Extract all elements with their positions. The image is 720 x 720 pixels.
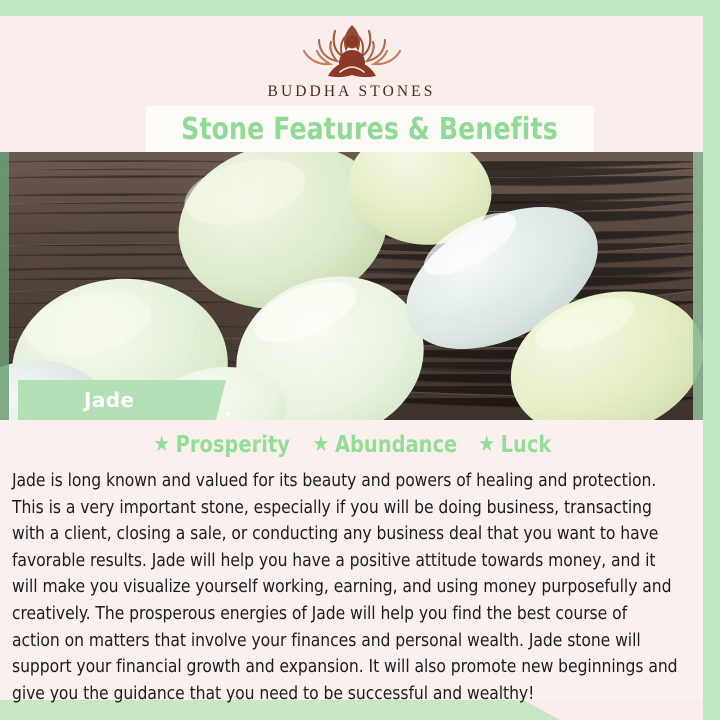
page-title: Stone Features & Benefits bbox=[182, 112, 559, 147]
frame-top-band bbox=[0, 0, 720, 16]
benefit-item-abundance: ★ Abundance bbox=[313, 432, 458, 458]
benefit-label: Luck bbox=[501, 432, 552, 458]
benefit-label: Abundance bbox=[335, 432, 457, 458]
benefit-item-luck: ★ Luck bbox=[479, 432, 552, 458]
frame-right-band bbox=[703, 0, 720, 720]
star-icon: ★ bbox=[479, 434, 496, 456]
star-icon: ★ bbox=[153, 434, 170, 456]
left-green-strip bbox=[0, 152, 9, 420]
content-section: ★ Prosperity ★ Abundance ★ Luck Jade is … bbox=[0, 420, 703, 700]
benefits-list: ★ Prosperity ★ Abundance ★ Luck bbox=[0, 420, 703, 464]
stone-photo-illustration bbox=[0, 152, 703, 420]
description-paragraph: Jade is long known and valued for its be… bbox=[12, 468, 679, 707]
benefit-item-prosperity: ★ Prosperity bbox=[153, 432, 289, 458]
stone-name-label: Jade bbox=[84, 388, 134, 412]
title-banner: Stone Features & Benefits bbox=[146, 106, 594, 152]
brand-name: BUDDHA STONES bbox=[268, 83, 436, 101]
benefit-label: Prosperity bbox=[176, 432, 290, 458]
right-green-strip bbox=[693, 152, 703, 420]
stone-name-tag: Jade bbox=[18, 380, 226, 420]
stone-photo bbox=[0, 152, 703, 420]
infographic-page: BUDDHA STONES Stone Features & Benefits … bbox=[0, 0, 720, 720]
lotus-meditation-icon bbox=[290, 20, 414, 82]
brand-logo: BUDDHA STONES bbox=[0, 20, 703, 106]
star-icon: ★ bbox=[313, 434, 330, 456]
